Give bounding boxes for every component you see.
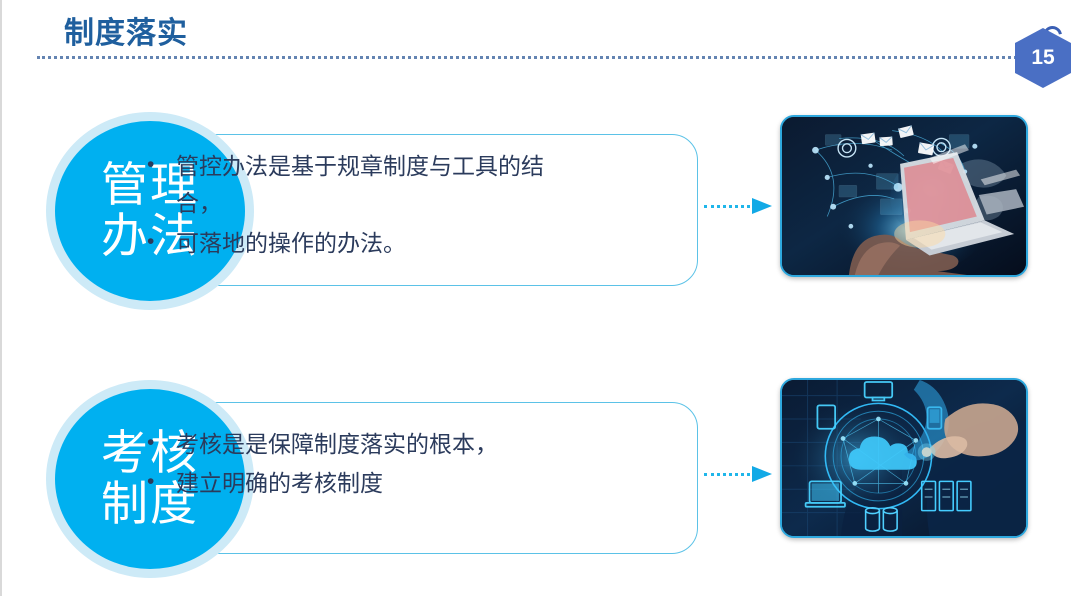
bullet-text: 管控办法是基于规章制度与工具的结合，: [176, 148, 562, 223]
bullet-dot-icon: •: [142, 225, 176, 259]
page-number-label: 15: [1015, 28, 1071, 88]
laptop-network-illustration: [782, 117, 1026, 275]
cloud-computing-illustration: [782, 380, 1026, 536]
list-item: • 可落地的操作的办法。: [142, 225, 562, 262]
list-item: • 考核是是保障制度落实的根本，: [142, 426, 562, 463]
bullet-dot-icon: •: [142, 148, 176, 182]
slide-canvas: 制度落实 15 管理 办法 • 管控办法是基于规章制度与工具的结合， • 可落地…: [0, 0, 1081, 596]
content-row: 管理 办法 • 管控办法是基于规章制度与工具的结合， • 可落地的操作的办法。: [2, 110, 1081, 310]
content-row: 考核 制度 • 考核是是保障制度落实的根本， • 建立明确的考核制度: [2, 378, 1081, 578]
laptop-network-photo: [780, 115, 1028, 277]
list-item: • 管控办法是基于规章制度与工具的结合，: [142, 148, 562, 223]
bullet-text: 建立明确的考核制度: [176, 465, 562, 502]
list-item: • 建立明确的考核制度: [142, 465, 562, 502]
arrow-connector: [704, 466, 780, 482]
title-divider: [37, 56, 1022, 59]
dotted-line: [704, 205, 756, 208]
arrow-head-icon: [752, 198, 772, 214]
bullet-dot-icon: •: [142, 426, 176, 460]
bullet-text: 考核是是保障制度落实的根本，: [176, 426, 562, 463]
cloud-computing-photo: [780, 378, 1028, 538]
arrow-connector: [704, 198, 780, 214]
page-title: 制度落实: [64, 8, 188, 52]
bullet-text: 可落地的操作的办法。: [176, 225, 562, 262]
page-number-badge: 15: [1015, 28, 1071, 88]
dotted-line: [704, 473, 756, 476]
bullet-list: • 管控办法是基于规章制度与工具的结合， • 可落地的操作的办法。: [142, 148, 562, 264]
arrow-head-icon: [752, 466, 772, 482]
bullet-list: • 考核是是保障制度落实的根本， • 建立明确的考核制度: [142, 426, 562, 505]
bullet-dot-icon: •: [142, 465, 176, 499]
